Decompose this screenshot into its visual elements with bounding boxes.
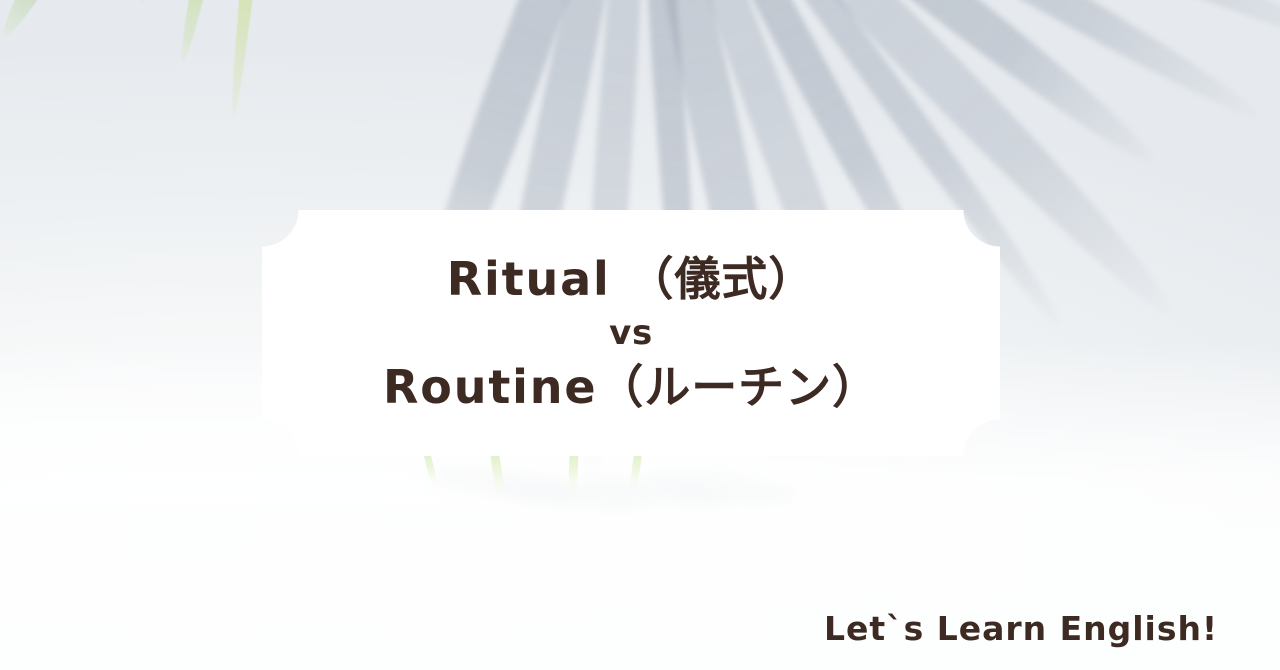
footer-caption: Let`s Learn English! [824,609,1218,648]
title-line-routine: Routine（ルーチン） [383,364,879,410]
title-ritual-latin: Ritual [447,252,611,306]
slide-canvas: Ritual （儀式） vs Routine（ルーチン） Let`s Learn… [0,0,1280,670]
title-routine-latin: Routine [383,360,597,414]
title-card-content: Ritual （儀式） vs Routine（ルーチン） [262,210,1000,456]
title-line-ritual: Ritual （儀式） [447,256,815,302]
title-line-vs: vs [609,316,653,350]
title-ritual-japanese: （儀式） [628,252,816,306]
title-card: Ritual （儀式） vs Routine（ルーチン） [262,210,1000,456]
title-routine-japanese: （ルーチン） [597,360,879,414]
